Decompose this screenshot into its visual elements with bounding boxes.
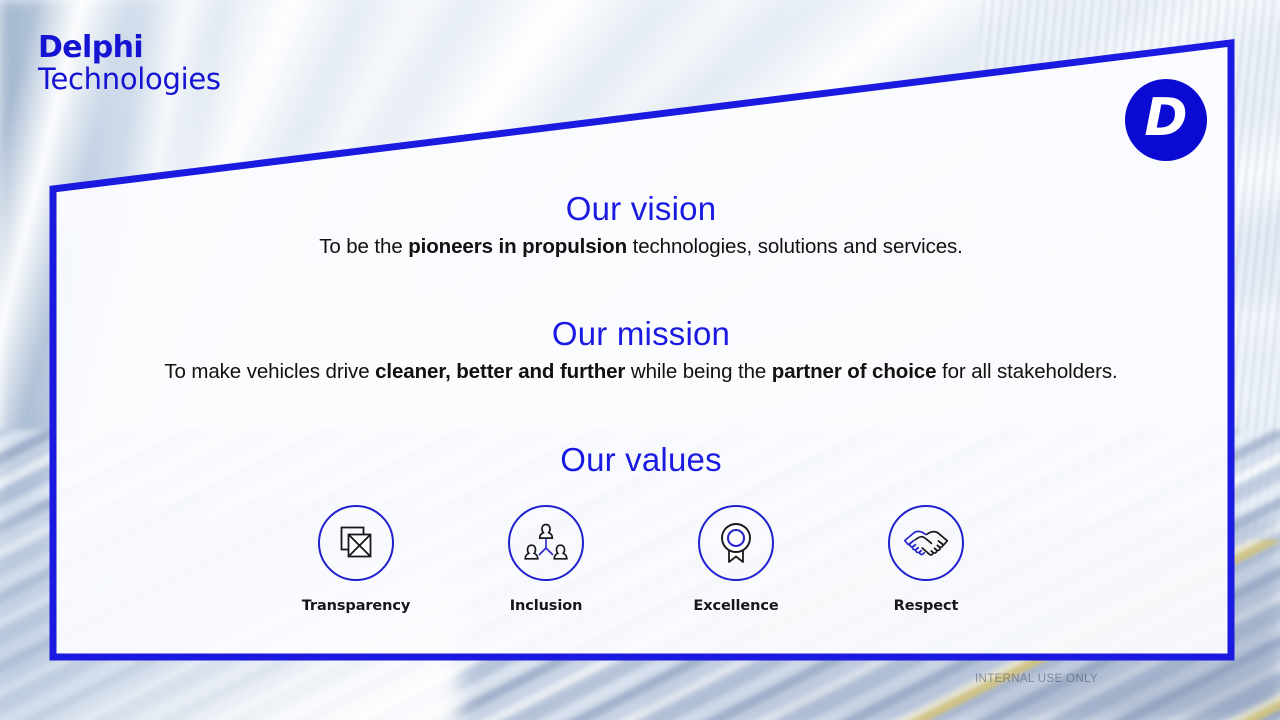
section-values: Our values Transparency xyxy=(60,441,1222,614)
slide-content: Our vision To be the pioneers in propuls… xyxy=(60,180,1222,614)
value-icon-ring xyxy=(698,505,774,581)
slide-canvas: Delphi Technologies D Our vision To be t… xyxy=(0,0,1280,720)
award-ribbon-icon xyxy=(715,520,757,566)
value-icon-ring xyxy=(888,505,964,581)
vision-heading: Our vision xyxy=(60,190,1222,228)
badge-letter: D xyxy=(1144,92,1187,144)
section-vision: Our vision To be the pioneers in propuls… xyxy=(60,190,1222,259)
value-label: Inclusion xyxy=(510,598,583,614)
mission-heading: Our mission xyxy=(60,315,1222,353)
values-row: Transparency xyxy=(60,505,1222,614)
value-item-excellence[interactable]: Excellence xyxy=(680,505,792,614)
value-item-inclusion[interactable]: Inclusion xyxy=(490,505,602,614)
vision-body: To be the pioneers in propulsion technol… xyxy=(60,235,1222,259)
value-label: Respect xyxy=(894,598,959,614)
value-label: Excellence xyxy=(693,598,778,614)
section-mission: Our mission To make vehicles drive clean… xyxy=(60,315,1222,384)
classification-footer: INTERNAL USE ONLY xyxy=(975,673,1098,685)
d-circle-badge: D xyxy=(1125,79,1207,161)
logo-wordmark-delphi: Delphi xyxy=(38,33,221,64)
three-people-network-icon xyxy=(523,521,569,565)
delphi-technologies-logo: Delphi Technologies xyxy=(38,33,221,94)
value-item-transparency[interactable]: Transparency xyxy=(300,505,412,614)
mission-body: To make vehicles drive cleaner, better a… xyxy=(60,360,1222,384)
handshake-icon xyxy=(902,526,950,560)
value-icon-ring xyxy=(508,505,584,581)
value-item-respect[interactable]: Respect xyxy=(870,505,982,614)
value-icon-ring xyxy=(318,505,394,581)
values-heading: Our values xyxy=(60,441,1222,479)
value-label: Transparency xyxy=(302,598,411,614)
overlapping-squares-icon xyxy=(335,522,377,564)
logo-wordmark-technologies: Technologies xyxy=(38,65,221,95)
